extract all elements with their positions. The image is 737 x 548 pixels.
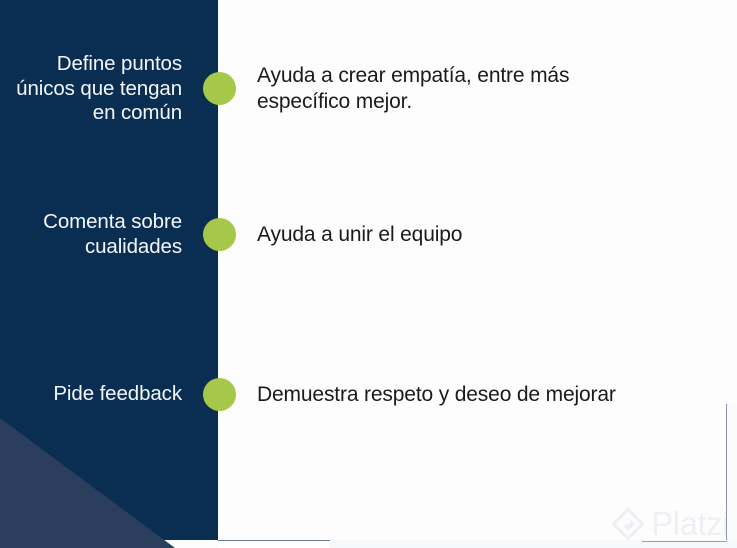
row-label-comenta-cualidades: Comenta sobre cualidades [0, 210, 182, 259]
row-text-unir-equipo: Ayuda a unir el equipo [257, 222, 707, 248]
platzi-wordmark: Platzi [651, 507, 729, 540]
row-marker-cell [201, 72, 238, 105]
slide-canvas: Define puntos únicos que tengan en común… [0, 0, 737, 548]
platzi-watermark: Platzi [612, 507, 729, 540]
content-row: Pide feedback Demuestra respeto y deseo … [0, 378, 737, 411]
bullet-dot-icon [203, 378, 236, 411]
row-marker-cell [201, 378, 238, 411]
row-label-define-puntos: Define puntos únicos que tengan en común [0, 52, 182, 126]
row-text-respeto-mejorar: Demuestra respeto y deseo de mejorar [257, 382, 707, 408]
window-chrome-right-edge [726, 404, 727, 548]
row-label-pide-feedback: Pide feedback [0, 382, 182, 407]
content-row: Comenta sobre cualidades Ayuda a unir el… [0, 210, 737, 259]
row-text-empatia: Ayuda a crear empatía, entre más específ… [257, 63, 707, 115]
bullet-dot-icon [203, 72, 236, 105]
window-chrome-right-panel [727, 404, 737, 548]
window-chrome-bottom-strip-left [218, 540, 330, 548]
bullet-dot-icon [203, 218, 236, 251]
window-chrome-bottom-underline [642, 541, 727, 542]
row-marker-cell [201, 218, 238, 251]
platzi-diamond-icon [612, 508, 644, 540]
content-row: Define puntos únicos que tengan en común… [0, 52, 737, 126]
